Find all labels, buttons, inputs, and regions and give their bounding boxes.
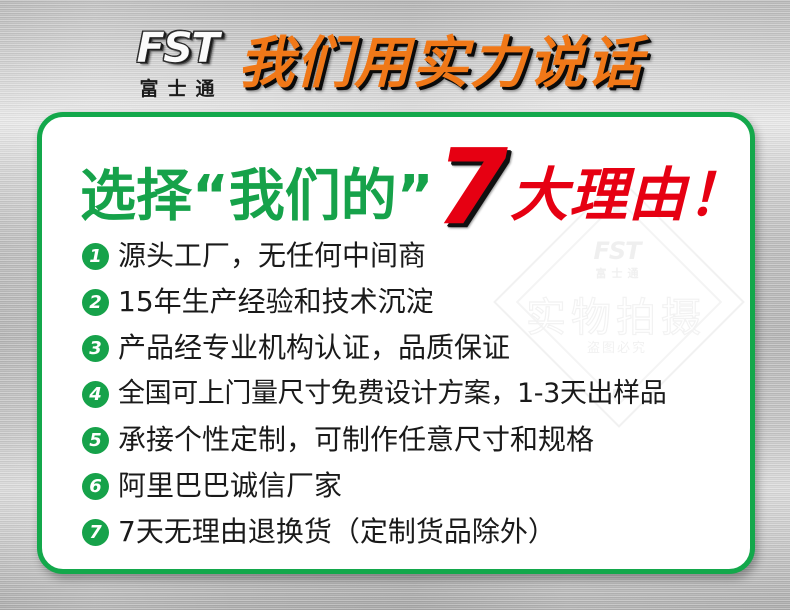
reason-text: 全国可上门量尺寸免费设计方案，1-3天出样品	[118, 377, 740, 411]
header-headline: 我们用实力说话	[238, 32, 644, 96]
list-item: 2 15年生产经验和技术沉淀	[82, 279, 740, 325]
reason-number-badge: 4	[82, 381, 109, 408]
poster-root: FST 富士通 我们用实力说话 FST 富士通 实物拍摄 盗图必究 选择“我们的…	[0, 0, 790, 610]
list-item: 1 源头工厂，无任何中间商	[82, 233, 740, 279]
reason-text: 7天无理由退换货（定制货品除外）	[118, 515, 740, 549]
list-item: 5 承接个性定制，可制作任意尺寸和规格	[82, 417, 740, 463]
brand-logo-mark: FST	[112, 24, 242, 72]
reason-text: 15年生产经验和技术沉淀	[118, 285, 740, 319]
reason-text: 阿里巴巴诚信厂家	[118, 469, 740, 503]
page-title-green: 选择“我们的”	[80, 151, 434, 243]
list-item: 7 7天无理由退换货（定制货品除外）	[82, 509, 740, 555]
brand-logo: FST 富士通	[112, 24, 242, 102]
reason-number-badge: 5	[82, 427, 109, 454]
page-title: 选择“我们的”7大理由！	[80, 133, 746, 229]
reason-number-badge: 2	[82, 289, 109, 316]
list-item: 6 阿里巴巴诚信厂家	[82, 463, 740, 509]
reason-number-badge: 1	[82, 243, 109, 270]
content-card: FST 富士通 实物拍摄 盗图必究 选择“我们的”7大理由！ 1 源头工厂，无任…	[37, 112, 755, 574]
reason-text: 承接个性定制，可制作任意尺寸和规格	[118, 423, 740, 457]
brand-logo-subtitle: 富士通	[112, 74, 242, 101]
reason-number-badge: 3	[82, 335, 109, 362]
list-item: 4 全国可上门量尺寸免费设计方案，1-3天出样品	[82, 371, 740, 417]
reason-text: 产品经专业机构认证，品质保证	[118, 331, 740, 365]
poster-header: FST 富士通 我们用实力说话	[0, 0, 790, 112]
page-title-number: 7	[436, 141, 508, 233]
reason-number-badge: 7	[82, 519, 109, 546]
reason-number-badge: 6	[82, 473, 109, 500]
reasons-list: 1 源头工厂，无任何中间商 2 15年生产经验和技术沉淀 3 产品经专业机构认证…	[82, 233, 740, 555]
reason-text: 源头工厂，无任何中间商	[118, 239, 740, 273]
page-title-red: 大理由！	[510, 149, 746, 241]
list-item: 3 产品经专业机构认证，品质保证	[82, 325, 740, 371]
